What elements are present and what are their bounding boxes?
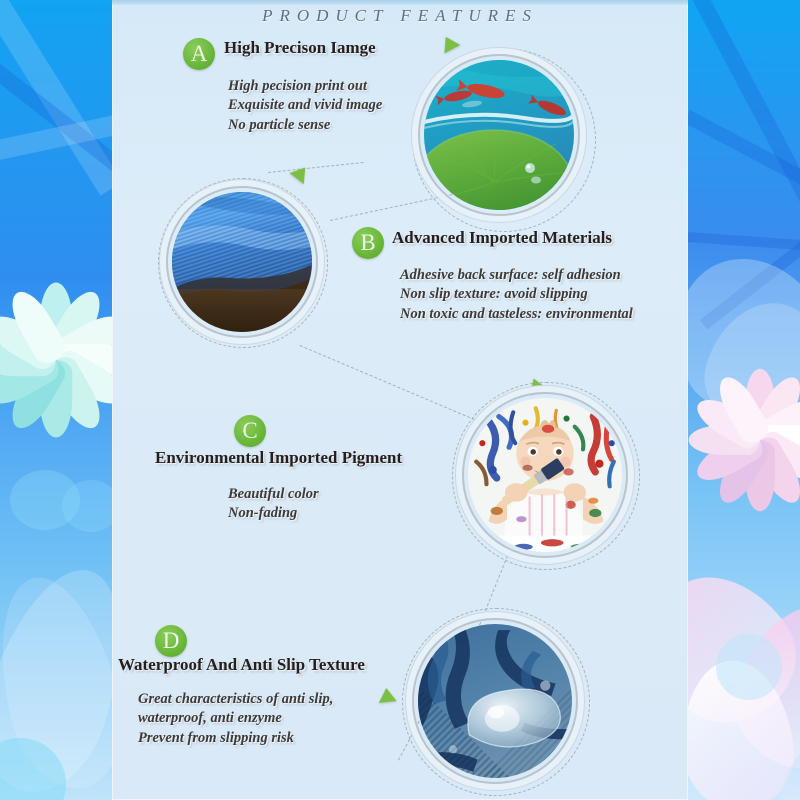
feature-bullet: High pecision print out [228, 77, 382, 96]
feature-bullet: No particle sense [228, 116, 382, 135]
blue-fabric-texture-photo [172, 192, 312, 332]
feature-bullets-a: High pecision print out Exquisite and vi… [228, 77, 382, 135]
background-bubble [716, 634, 782, 700]
panel-top-accent [112, 0, 688, 5]
feature-bullet: Adhesive back surface: self adhesion [400, 266, 633, 285]
connector-arrow-icon [377, 687, 396, 703]
page-title: PRODUCT FEATURES [112, 6, 688, 26]
feature-bullet: Prevent from slipping risk [138, 729, 333, 748]
feature-bullet: Exquisite and vivid image [228, 96, 382, 115]
feature-image-a [418, 54, 580, 216]
feature-badge-a: A [183, 38, 215, 70]
feature-image-d [412, 618, 578, 784]
product-features-poster: PRODUCT FEATURES [0, 0, 800, 800]
feature-bullet: Great characteristics of anti slip, [138, 690, 333, 709]
feature-badge-b: B [352, 227, 384, 259]
feature-image-c [462, 392, 628, 558]
feature-heading-c: Environmental Imported Pigment [155, 448, 402, 468]
feature-bullet: Beautiful color [228, 485, 319, 504]
feature-heading-a: High Precison Iamge [224, 38, 376, 58]
water-droplet-surface-photo [418, 624, 572, 778]
feature-bullets-d: Great characteristics of anti slip, wate… [138, 690, 333, 748]
feature-bullets-c: Beautiful color Non-fading [228, 485, 319, 524]
feature-bullet: Non-fading [228, 504, 319, 523]
feature-badge-d: D [155, 625, 187, 657]
feature-heading-b: Advanced Imported Materials [392, 228, 612, 248]
feature-bullet: Non toxic and tasteless: environmental [400, 305, 633, 324]
koi-pond-print-photo [424, 60, 574, 210]
feature-heading-d: Waterproof And Anti Slip Texture [118, 655, 365, 675]
feature-badge-c: C [234, 415, 266, 447]
baby-with-paintbrush-photo [468, 398, 622, 552]
feature-bullet: waterproof, anti enzyme [138, 709, 333, 728]
feature-bullets-b: Adhesive back surface: self adhesion Non… [400, 266, 633, 324]
feature-bullet: Non slip texture: avoid slipping [400, 285, 633, 304]
feature-image-b [166, 186, 318, 338]
